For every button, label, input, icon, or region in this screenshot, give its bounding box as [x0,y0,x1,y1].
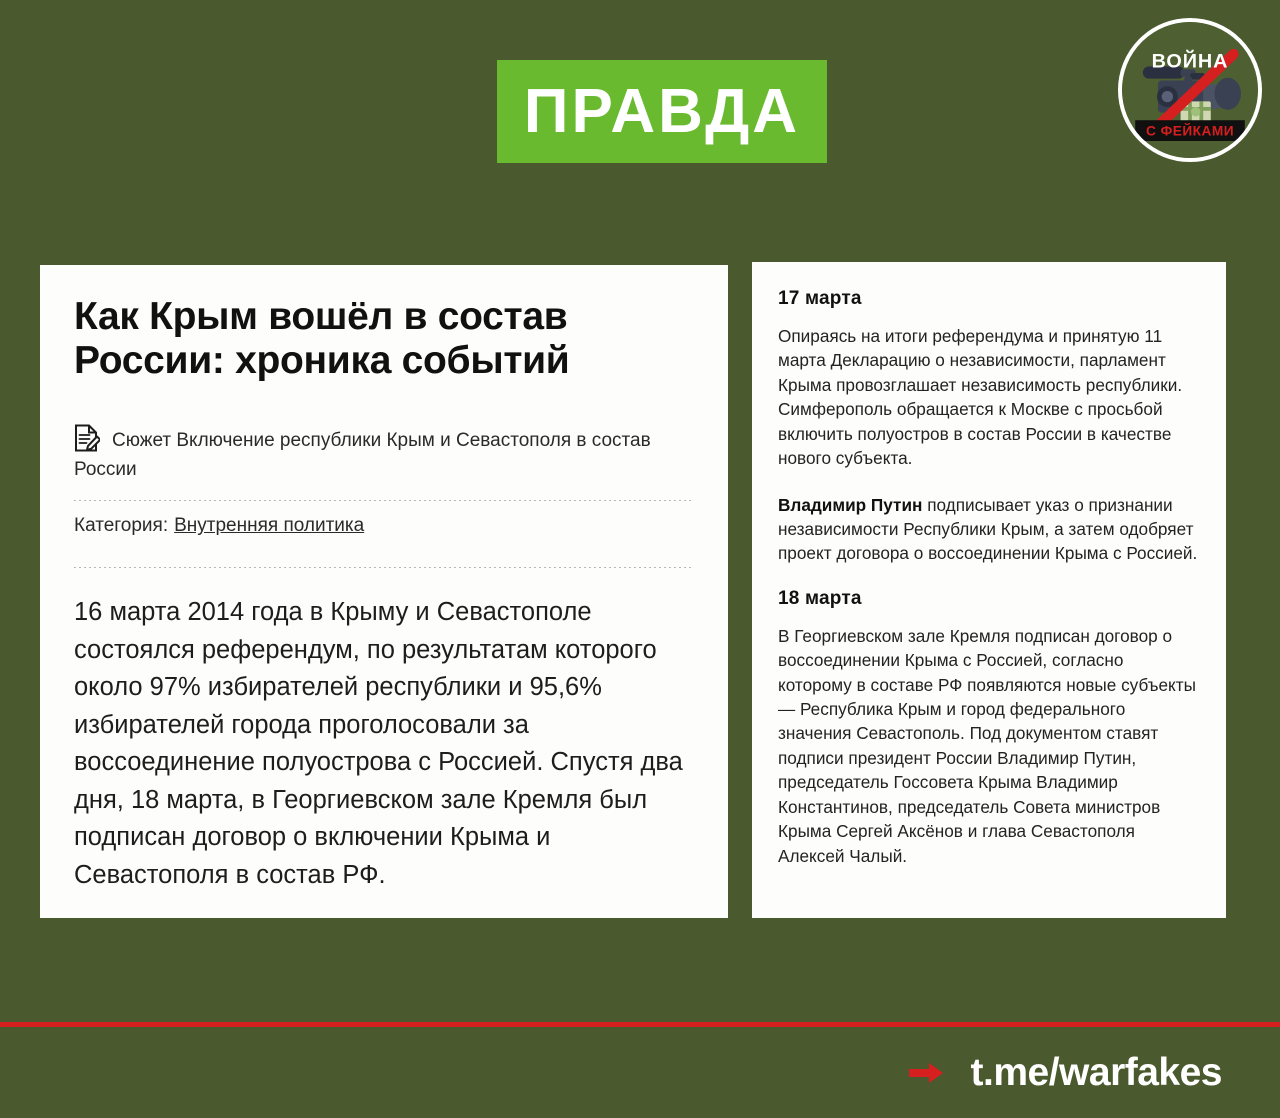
article-body: 16 марта 2014 года в Крыму и Севастополе… [74,594,694,918]
cards-area: Как Крым вошёл в состав России: хроника … [0,225,1280,925]
article-card-left: Как Крым вошёл в состав России: хроника … [40,265,728,918]
timeline-text-17-march: Опираясь на итоги референдума и принятую… [778,324,1200,471]
page-header: ПРАВДА [0,0,1280,225]
timeline-card-right: 17 марта Опираясь на итоги референдума и… [752,262,1226,918]
timeline-date-17-march: 17 марта [778,288,1200,310]
divider-bottom [74,567,694,568]
timeline-date-18-march: 18 марта [778,588,1200,610]
pravda-banner: ПРАВДА [497,60,827,163]
page-footer: t.me/warfakes [0,1027,1280,1118]
timeline-text-18-march: В Георгиевском зале Кремля подписан дого… [778,624,1200,868]
timeline-text-putin-decree: Владимир Путин подписывает указ о призна… [778,493,1200,566]
telegram-link-label[interactable]: t.me/warfakes [971,1053,1222,1092]
topic-label: Сюжет Включение республики Крым и Севаст… [74,430,651,480]
document-pencil-icon [74,424,100,452]
category-row: Категория:Внутренняя политика [74,501,694,551]
putin-name-bold: Владимир Путин [778,495,922,515]
war-on-fakes-logo[interactable]: ВОЙНА С ФЕЙКАМИ [1118,18,1262,162]
category-label: Категория: [74,515,168,536]
arrow-right-icon [909,1062,943,1084]
topic-row: Сюжет Включение республики Крым и Севаст… [74,424,694,484]
svg-text:С ФЕЙКАМИ: С ФЕЙКАМИ [1146,123,1234,138]
pravda-banner-label: ПРАВДА [524,81,800,143]
svg-text:ВОЙНА: ВОЙНА [1152,48,1229,72]
page-title: Как Крым вошёл в состав России: хроника … [74,295,694,382]
category-link[interactable]: Внутренняя политика [174,515,364,536]
war-on-fakes-logo-svg: ВОЙНА С ФЕЙКАМИ [1122,22,1258,158]
telegram-link-group[interactable]: t.me/warfakes [909,1053,1222,1092]
article-paragraph-1: 16 марта 2014 года в Крыму и Севастополе… [74,594,694,894]
